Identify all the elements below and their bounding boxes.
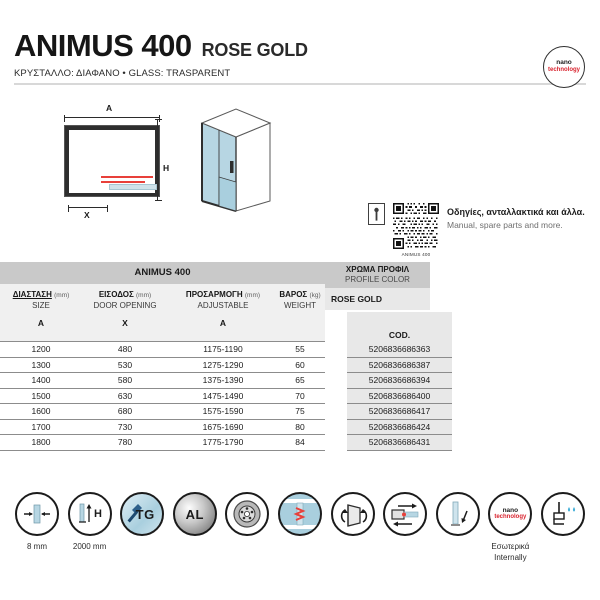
nano-technology-label: Εσωτερικά Internally	[491, 542, 529, 564]
nano-label-en: Internally	[491, 553, 529, 564]
feature-reversible-door	[330, 492, 376, 564]
cell-product-code: 5206836686387	[347, 358, 452, 374]
cell-weight: 70	[276, 391, 324, 401]
technical-drawings: A X H	[0, 91, 600, 241]
height-dimension-label: H	[163, 163, 169, 173]
cell-adjustable: 1375-1390	[170, 375, 276, 385]
isometric-svg	[188, 101, 288, 219]
col2-en: ADJUSTABLE	[170, 301, 276, 310]
col0-letter: A	[2, 318, 80, 328]
cell-door-opening: 780	[80, 437, 170, 447]
cell-size: 1800	[2, 437, 80, 447]
cell-adjustable: 1775-1790	[170, 437, 276, 447]
cell-door-opening: 580	[80, 375, 170, 385]
cell-size: 1300	[2, 360, 80, 370]
easy-clean-icon	[541, 492, 585, 536]
nano-technology-badge: nano technology	[543, 46, 585, 88]
col0-en: SIZE	[2, 301, 80, 310]
col1-letter: X	[80, 318, 170, 328]
scan-phone-icon	[368, 203, 385, 225]
nano-icon-line1: nano	[503, 507, 519, 514]
cell-product-code: 5206836686400	[347, 389, 452, 405]
aluminium-text: AL	[186, 507, 204, 522]
feature-glass-thickness: 8 mm	[14, 492, 60, 564]
table-row: 18007801775-179084	[0, 435, 325, 451]
col3-unit: (kg)	[309, 292, 320, 299]
water-seal-icon	[436, 492, 480, 536]
feature-aluminium: AL	[172, 492, 218, 564]
cell-size: 1200	[2, 344, 80, 354]
cell-door-opening: 630	[80, 391, 170, 401]
glass-pane-indicator	[109, 184, 157, 190]
cell-weight: 65	[276, 375, 324, 385]
column-header-door-opening: ΕΙΣΟΔΟΣ (mm) DOOR OPENING X	[80, 290, 170, 328]
feature-tempered-glass: TG	[119, 492, 165, 564]
table-row: 13005301275-129060	[0, 358, 325, 374]
col1-unit: (mm)	[136, 292, 151, 299]
table-header-row: ΔΙΑΣΤΑΣΗ (mm) SIZE A ΕΙΣΟΔΟΣ (mm) DOOR O…	[0, 284, 325, 342]
cell-weight: 60	[276, 360, 324, 370]
page-subtitle: ROSE GOLD	[202, 40, 308, 61]
feature-easy-clean	[540, 492, 586, 564]
cell-door-opening: 730	[80, 422, 170, 432]
width-dimension-line	[64, 117, 160, 118]
glass-thickness-label: 8 mm	[27, 542, 47, 553]
nano-icon-line2: technology	[494, 514, 526, 521]
anti-shatter-icon	[278, 492, 322, 536]
title-row: ANIMUS 400 ROSE GOLD	[14, 30, 586, 61]
nano-badge-line1: nano	[556, 60, 572, 67]
cell-door-opening: 530	[80, 360, 170, 370]
height-dimension-line	[157, 119, 158, 201]
cell-product-code: 5206836686394	[347, 373, 452, 389]
profile-color-value: ROSE GOLD	[325, 288, 430, 310]
col1-gr: ΕΙΣΟΔΟΣ	[99, 290, 134, 299]
column-header-adjustable: ΠΡΟΣΑΡΜΟΓΗ (mm) ADJUSTABLE A	[170, 290, 276, 328]
tempered-glass-text: TG	[136, 507, 155, 522]
qr-code-wrap[interactable]: ANIMUS 400	[393, 203, 439, 257]
spec-table-right: ΧΡΩΜΑ ΠΡΟΦΙΛ PROFILE COLOR ROSE GOLD COD…	[325, 262, 600, 310]
cell-adjustable: 1275-1290	[170, 360, 276, 370]
feature-height: H 2000 mm	[67, 492, 113, 564]
header-divider	[14, 83, 586, 85]
column-header-weight: ΒΑΡΟΣ (kg) WEIGHT	[276, 290, 324, 318]
table-title: ANIMUS 400	[0, 262, 325, 284]
col0-unit: (mm)	[54, 292, 69, 299]
cell-weight: 84	[276, 437, 324, 447]
nano-technology-icon: nano technology	[488, 492, 532, 536]
sliding-mechanism-icon	[383, 492, 427, 536]
cell-product-code: 5206836686431	[347, 435, 452, 451]
feature-nano-technology: nano technology Εσωτερικά Internally	[487, 492, 533, 564]
cell-adjustable: 1475-1490	[170, 391, 276, 401]
tempered-glass-icon: TG	[120, 492, 164, 536]
nano-badge-line2: technology	[548, 67, 580, 73]
qr-title-en: Manual, spare parts and more.	[447, 220, 585, 230]
height-icon: H	[68, 492, 112, 536]
table-row: 12004801175-119055	[0, 342, 325, 358]
cell-door-opening: 680	[80, 406, 170, 416]
cell-product-code: 5206836686424	[347, 420, 452, 436]
cell-size: 1700	[2, 422, 80, 432]
manual-qr-block[interactable]: ANIMUS 400 Οδηγίες, ανταλλακτικά και άλλ…	[368, 203, 585, 257]
opening-dimension-label: X	[84, 210, 90, 220]
cell-adjustable: 1575-1590	[170, 406, 276, 416]
cell-product-code: 5206836686363	[347, 342, 452, 358]
col1-en: DOOR OPENING	[80, 301, 170, 310]
spec-table-left: ANIMUS 400 ΔΙΑΣΤΑΣΗ (mm) SIZE A ΕΙΣΟΔΟΣ …	[0, 262, 325, 451]
frame-top	[65, 126, 159, 130]
frame-left	[65, 126, 69, 196]
cell-door-opening: 480	[80, 344, 170, 354]
profile-color-gr: ΧΡΩΜΑ ΠΡΟΦΙΛ	[325, 265, 430, 274]
table-row: 16006801575-159075	[0, 404, 325, 420]
feature-water-seal	[435, 492, 481, 564]
profile-color-header: ΧΡΩΜΑ ΠΡΟΦΙΛ PROFILE COLOR	[325, 262, 430, 288]
cell-weight: 75	[276, 406, 324, 416]
col2-letter: A	[170, 318, 276, 328]
opening-dimension-line	[68, 207, 108, 208]
cell-size: 1500	[2, 391, 80, 401]
aluminium-icon: AL	[173, 492, 217, 536]
slide-direction-line-1	[101, 176, 153, 178]
qr-caption: ANIMUS 400	[402, 252, 431, 257]
cell-product-code: 5206836686417	[347, 404, 452, 420]
roller-wheel-icon	[225, 492, 269, 536]
cell-adjustable: 1675-1690	[170, 422, 276, 432]
cell-weight: 80	[276, 422, 324, 432]
glass-thickness-icon	[15, 492, 59, 536]
page-header: ANIMUS 400 ROSE GOLD ΚΡΥΣΤΑΛΛΟ: ΔΙΑΦΑΝΟ …	[0, 0, 600, 85]
page-title: ANIMUS 400	[14, 30, 192, 61]
feature-icon-strip: 8 mm H 2000 mm TG AL	[0, 492, 600, 564]
table-body: 12004801175-11905513005301275-1290601400…	[0, 342, 325, 451]
column-header-size: ΔΙΑΣΤΑΣΗ (mm) SIZE A	[2, 290, 80, 328]
feature-anti-shatter	[277, 492, 323, 564]
col0-gr: ΔΙΑΣΤΑΣΗ	[13, 290, 52, 299]
feature-sliding-mechanism	[382, 492, 428, 564]
col2-gr: ΠΡΟΣΑΡΜΟΓΗ	[186, 290, 243, 299]
profile-color-en: PROFILE COLOR	[325, 275, 430, 284]
cell-size: 1400	[2, 375, 80, 385]
table-row: 15006301475-149070	[0, 389, 325, 405]
qr-text-block: Οδηγίες, ανταλλακτικά και άλλα. Manual, …	[447, 203, 585, 257]
table-row: 17007301675-169080	[0, 420, 325, 436]
feature-roller-wheel	[224, 492, 270, 564]
code-column-body: 5206836686363520683668638752068366863945…	[347, 342, 452, 451]
cell-weight: 55	[276, 344, 324, 354]
nano-label-gr: Εσωτερικά	[491, 542, 529, 553]
height-label: 2000 mm	[73, 542, 106, 553]
cell-adjustable: 1175-1190	[170, 344, 276, 354]
qr-title-gr: Οδηγίες, ανταλλακτικά και άλλα.	[447, 207, 585, 217]
glass-spec-line: ΚΡΥΣΤΑΛΛΟ: ΔΙΑΦΑΝΟ • GLASS: TRASPARENT	[14, 68, 586, 79]
code-column-header: COD.	[347, 312, 452, 342]
slide-direction-line-2	[101, 181, 145, 183]
shower-front-outline	[64, 125, 160, 197]
col2-unit: (mm)	[245, 292, 260, 299]
col3-en: WEIGHT	[276, 301, 324, 310]
reversible-door-icon	[331, 492, 375, 536]
isometric-view-drawing	[188, 101, 288, 224]
width-dimension-label: A	[106, 103, 112, 113]
frame-bottom	[65, 193, 159, 196]
table-row: 14005801375-139065	[0, 373, 325, 389]
qr-code-icon[interactable]	[393, 203, 439, 249]
cell-size: 1600	[2, 406, 80, 416]
col3-gr: ΒΑΡΟΣ	[279, 290, 307, 299]
svg-text:H: H	[94, 508, 102, 520]
